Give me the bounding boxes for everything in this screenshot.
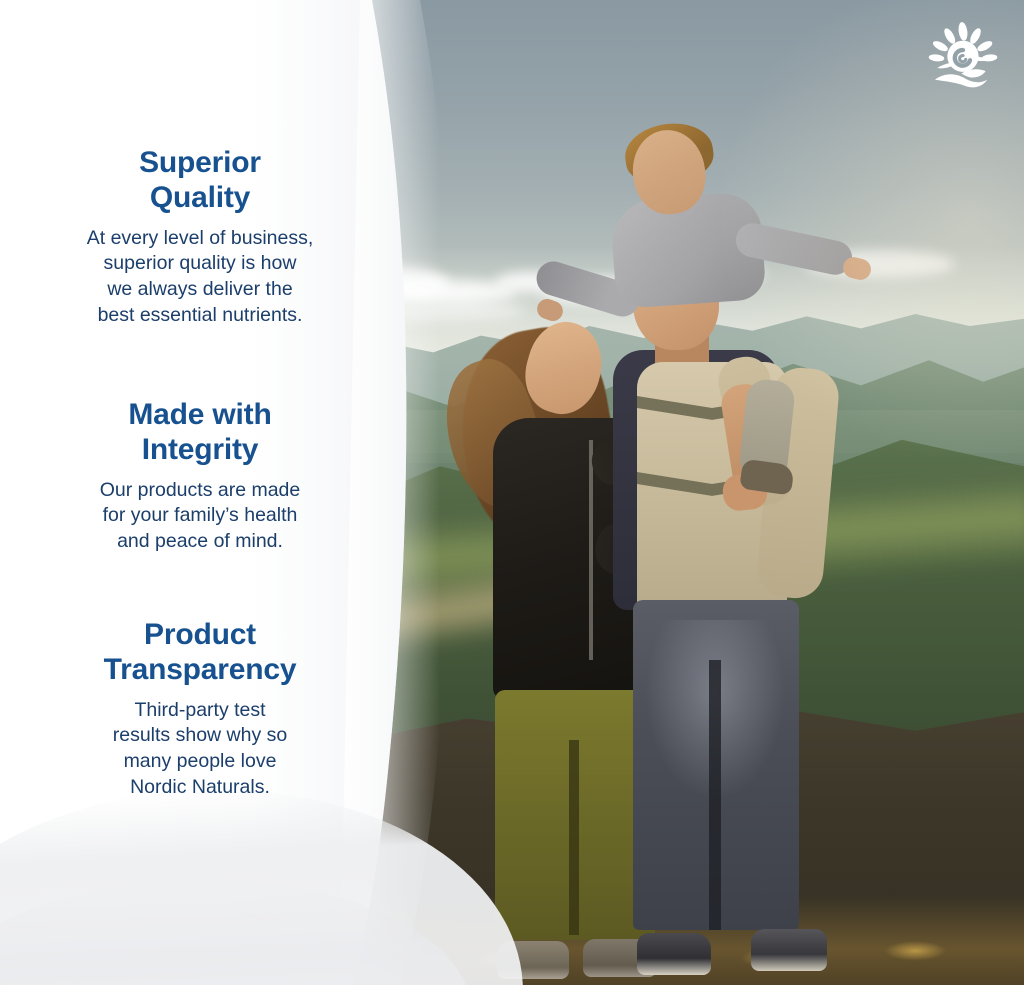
value-body: At every level of business, superior qua…	[30, 226, 370, 329]
body-line: and peace of mind.	[117, 530, 283, 552]
body-line: At every level of business,	[87, 227, 314, 249]
family-group	[345, 0, 1024, 985]
value-block-superior-quality: Superior Quality At every level of busin…	[30, 146, 370, 329]
body-line: many people love	[124, 750, 277, 772]
heading-line: Superior	[139, 146, 261, 179]
value-heading: Made with Integrity	[30, 398, 370, 468]
body-line: Our products are made	[100, 479, 301, 501]
heading-line: Quality	[150, 181, 250, 214]
jacket-zipper	[589, 440, 593, 660]
value-block-product-transparency: Product Transparency Third-party test re…	[30, 618, 370, 801]
mother-shoe-left	[497, 941, 569, 979]
body-line: superior quality is how	[104, 252, 297, 274]
value-body: Third-party test results show why so man…	[30, 698, 370, 801]
father-shoe-left	[637, 933, 711, 975]
lifestyle-photo	[345, 0, 1024, 985]
value-body: Our products are made for your family’s …	[30, 478, 370, 555]
body-line: results show why so	[113, 724, 287, 746]
body-line: for your family’s health	[103, 504, 298, 526]
value-block-made-with-integrity: Made with Integrity Our products are mad…	[30, 398, 370, 555]
body-line: Nordic Naturals.	[130, 776, 270, 798]
heading-line: Product	[144, 618, 256, 651]
body-line: we always deliver the	[107, 278, 292, 300]
child-hand-left	[534, 296, 565, 324]
value-proposition-list: Superior Quality At every level of busin…	[0, 0, 400, 985]
body-line: best essential nutrients.	[98, 304, 303, 326]
value-heading: Product Transparency	[30, 618, 370, 688]
nordic-naturals-sun-wave-logo-icon	[922, 22, 1004, 100]
heading-line: Made with	[128, 398, 271, 431]
heading-line: Integrity	[142, 433, 259, 466]
father-shoe-right	[751, 929, 827, 971]
child-hand-right	[841, 255, 873, 282]
pants-leg-gap	[569, 740, 579, 935]
brand-values-banner: Superior Quality At every level of busin…	[0, 0, 1024, 985]
heading-line: Transparency	[104, 653, 297, 686]
body-line: Third-party test	[134, 699, 265, 721]
jeans-leg-gap	[709, 660, 721, 930]
value-heading: Superior Quality	[30, 146, 370, 216]
